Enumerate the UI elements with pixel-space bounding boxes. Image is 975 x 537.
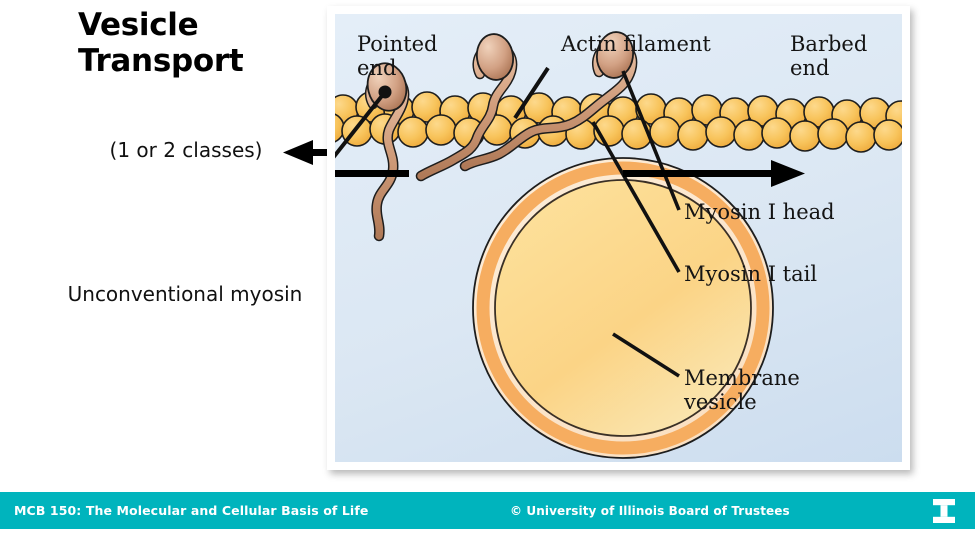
label-actin-filament: Actin filament — [561, 32, 711, 56]
page-title: Vesicle Transport — [78, 8, 318, 80]
myosin-unconventional-left — [363, 59, 411, 236]
illinois-block-i-logo — [929, 496, 959, 526]
figure-panel: Pointed end Actin filament Barbed end My… — [327, 6, 910, 470]
slide-canvas: Vesicle Transport (1 or 2 classes) Uncon… — [0, 0, 975, 537]
label-myosin-i-head: Myosin I head — [684, 200, 835, 224]
left-direction-arrow-stub — [335, 170, 409, 177]
label-myosin-i-tail: Myosin I tail — [684, 262, 817, 286]
footer-course-text: MCB 150: The Molecular and Cellular Basi… — [14, 492, 368, 529]
footer-copyright-text: © University of Illinois Board of Truste… — [510, 492, 790, 529]
subtitle-classes: (1 or 2 classes) — [86, 138, 286, 162]
label-membrane-vesicle: Membrane vesicle — [684, 366, 800, 415]
footer-bar: MCB 150: The Molecular and Cellular Basi… — [0, 492, 975, 529]
label-pointed-end: Pointed end — [357, 32, 437, 81]
label-barbed-end: Barbed end — [790, 32, 867, 81]
vesicle-transport-diagram — [335, 14, 902, 462]
caption-unconventional-myosin: Unconventional myosin — [60, 282, 310, 307]
figure-canvas: Pointed end Actin filament Barbed end My… — [335, 14, 902, 462]
